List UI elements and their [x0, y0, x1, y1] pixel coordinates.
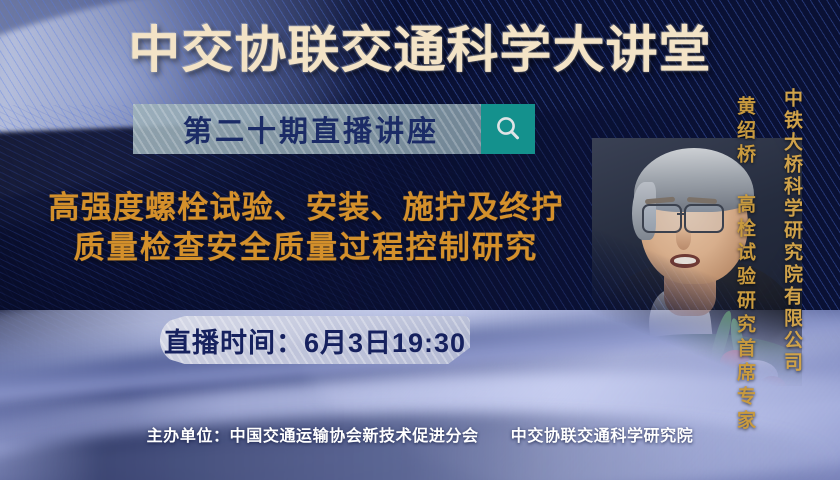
speaker-name-and-role: 黄绍桥 高栓试验研究首席专家 — [731, 96, 758, 376]
search-button[interactable] — [481, 104, 535, 154]
live-time-badge: 直播时间：6月3日19:30 — [160, 316, 470, 364]
page-title: 中交协联交通科学大讲堂 — [0, 22, 840, 78]
bouquet-red-flower-3 — [598, 358, 624, 382]
speaker-portrait — [592, 138, 802, 386]
glasses-bridge — [677, 213, 686, 215]
subtitle-bar: 第二十期直播讲座 — [133, 104, 535, 154]
lecture-topic: 高强度螺栓试验、安装、施拧及终拧 质量检查安全质量过程控制研究 — [12, 188, 600, 268]
speaker-organization: 中铁大桥科学研究院有限公司 — [778, 88, 805, 388]
lecture-topic-line-2: 质量检查安全质量过程控制研究 — [12, 228, 600, 268]
lecture-topic-line-1: 高强度螺栓试验、安装、施拧及终拧 — [12, 188, 600, 228]
subtitle-label: 第二十期直播讲座 — [133, 104, 489, 154]
portrait-nose — [676, 226, 691, 250]
portrait-teeth — [674, 257, 696, 264]
live-lecture-poster: 中交协联交通科学大讲堂 第二十期直播讲座 高强度螺栓试验、安装、施拧及终拧 质量… — [0, 0, 840, 480]
glasses-lens-left-icon — [642, 204, 682, 233]
search-icon — [493, 114, 523, 144]
organizer-suffix: 中交协联交通科学研究院 — [511, 428, 694, 445]
glasses-lens-right-icon — [684, 204, 724, 233]
live-time-label: 直播时间：6月3日19:30 — [164, 321, 466, 360]
organizer-footer: 主办单位：中国交通运输协会新技术促进分会 中交协联交通科学研究院 — [0, 422, 840, 446]
organizer-prefix: 主办单位：中国交通运输协会新技术促进分会 — [147, 428, 479, 445]
